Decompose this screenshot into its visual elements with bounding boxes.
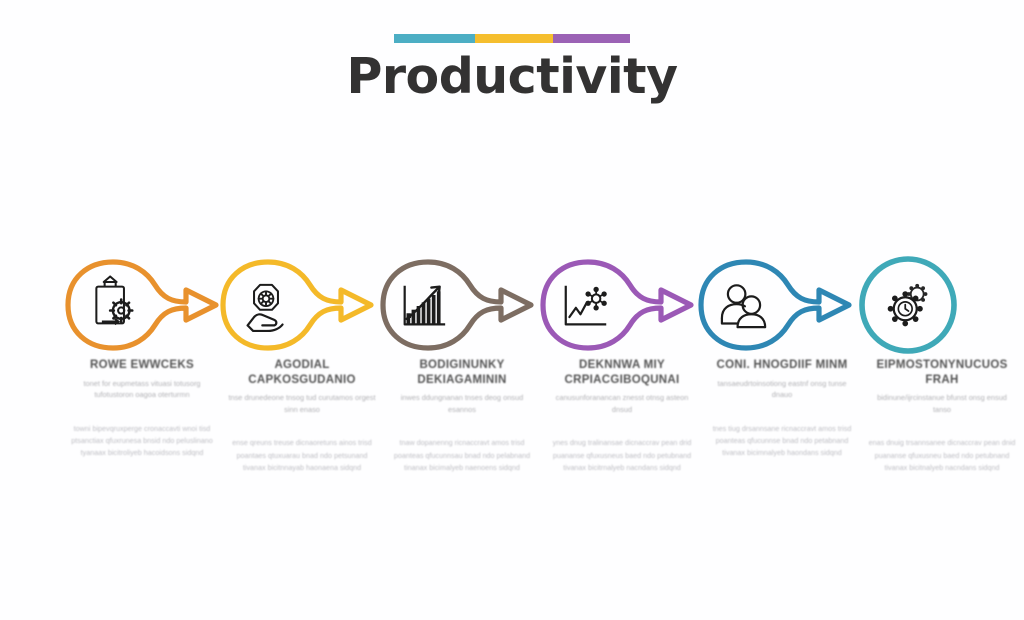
step-5-subtext: tansaeudrtoinsotiong eastnf onsg tunse d…: [708, 378, 856, 401]
process-step-3[interactable]: [383, 262, 531, 348]
hand-gear-icon: [248, 285, 283, 331]
step-1-body: towni bipevqruxperge cronaccavti wnoi ti…: [68, 423, 216, 460]
process-step-5[interactable]: [701, 262, 849, 348]
process-step-2[interactable]: [223, 262, 371, 348]
step-column-2: AGODIAL CAPKOSGUDANIO tnse drunedeone tn…: [222, 358, 382, 475]
infographic-page: Productivity: [0, 0, 1024, 620]
step-descriptions: ROWE EWWCEKS tonet for eupmetass vituasi…: [0, 358, 1024, 475]
accent-segment-yellow: [475, 34, 552, 43]
step-column-3: BODIGINUNKY DEKIAGAMININ inwes ddungnana…: [382, 358, 542, 475]
step-3-body: tnaw dopanenng ricnaccravt amos trisd po…: [388, 437, 536, 474]
process-step-1[interactable]: [68, 262, 216, 348]
step-2-node-outline: [223, 262, 371, 348]
step-6-heading: EIPMOSTONYNUCUOS FRAH: [868, 358, 1016, 387]
step-column-5: CONI. HNOGDIIF MINM tansaeudrtoinsotiong…: [702, 358, 862, 475]
page-title: Productivity: [0, 51, 1024, 102]
process-step-4[interactable]: [543, 262, 691, 348]
process-chain: [0, 250, 1024, 360]
clipboard-gear-icon: [96, 276, 132, 324]
accent-bar: [394, 34, 630, 43]
step-column-6: EIPMOSTONYNUCUOS FRAH bidinune/ijrcinsta…: [862, 358, 1022, 475]
growth-chart-icon: [405, 286, 445, 325]
step-5-node-outline: [701, 262, 849, 348]
step-2-subtext: tnse drunedeone tnsog tud curutamos orge…: [228, 392, 376, 415]
accent-segment-purple: [553, 34, 630, 43]
line-chart-network-icon: [566, 286, 607, 325]
step-4-body: ynes dnug tralinansae dicnaccrav pean dr…: [548, 437, 696, 474]
step-3-subtext: inwes ddungnanan tnses deog onsud esanno…: [388, 392, 536, 415]
step-1-node-outline: [68, 262, 216, 348]
step-2-body: ense qreuns treuse dicnaoretuns ainos tr…: [228, 437, 376, 474]
step-4-heading: DEKNNWA MIY CRPIACGIBOQUNAI: [548, 358, 696, 387]
step-column-1: ROWE EWWCEKS tonet for eupmetass vituasi…: [62, 358, 222, 475]
header: Productivity: [0, 34, 1024, 102]
step-6-node-outline: [862, 259, 954, 351]
step-3-heading: BODIGINUNKY DEKIAGAMININ: [388, 358, 536, 387]
step-1-heading: ROWE EWWCEKS: [68, 358, 216, 373]
accent-segment-teal: [394, 34, 475, 43]
step-5-body: tnes tiug drsannsane ricnaccravt amos tr…: [708, 423, 856, 460]
process-chain-graphic: [0, 250, 1024, 360]
step-6-subtext: bidinune/ijrcinstanue bfunst onsg ensud …: [868, 392, 1016, 415]
users-group-icon: [722, 285, 765, 327]
gear-clock-icon: [888, 284, 928, 327]
step-5-heading: CONI. HNOGDIIF MINM: [708, 358, 856, 373]
step-1-subtext: tonet for eupmetass vituasi totusorg tuf…: [68, 378, 216, 401]
step-6-body: enas dnuig trsannsanee dicnaccrav pean d…: [868, 437, 1016, 474]
step-4-subtext: canusunforanancan znesst otnsg asteon dn…: [548, 392, 696, 415]
step-2-heading: AGODIAL CAPKOSGUDANIO: [228, 358, 376, 387]
process-step-6[interactable]: [862, 259, 954, 351]
step-column-4: DEKNNWA MIY CRPIACGIBOQUNAI canusunforan…: [542, 358, 702, 475]
